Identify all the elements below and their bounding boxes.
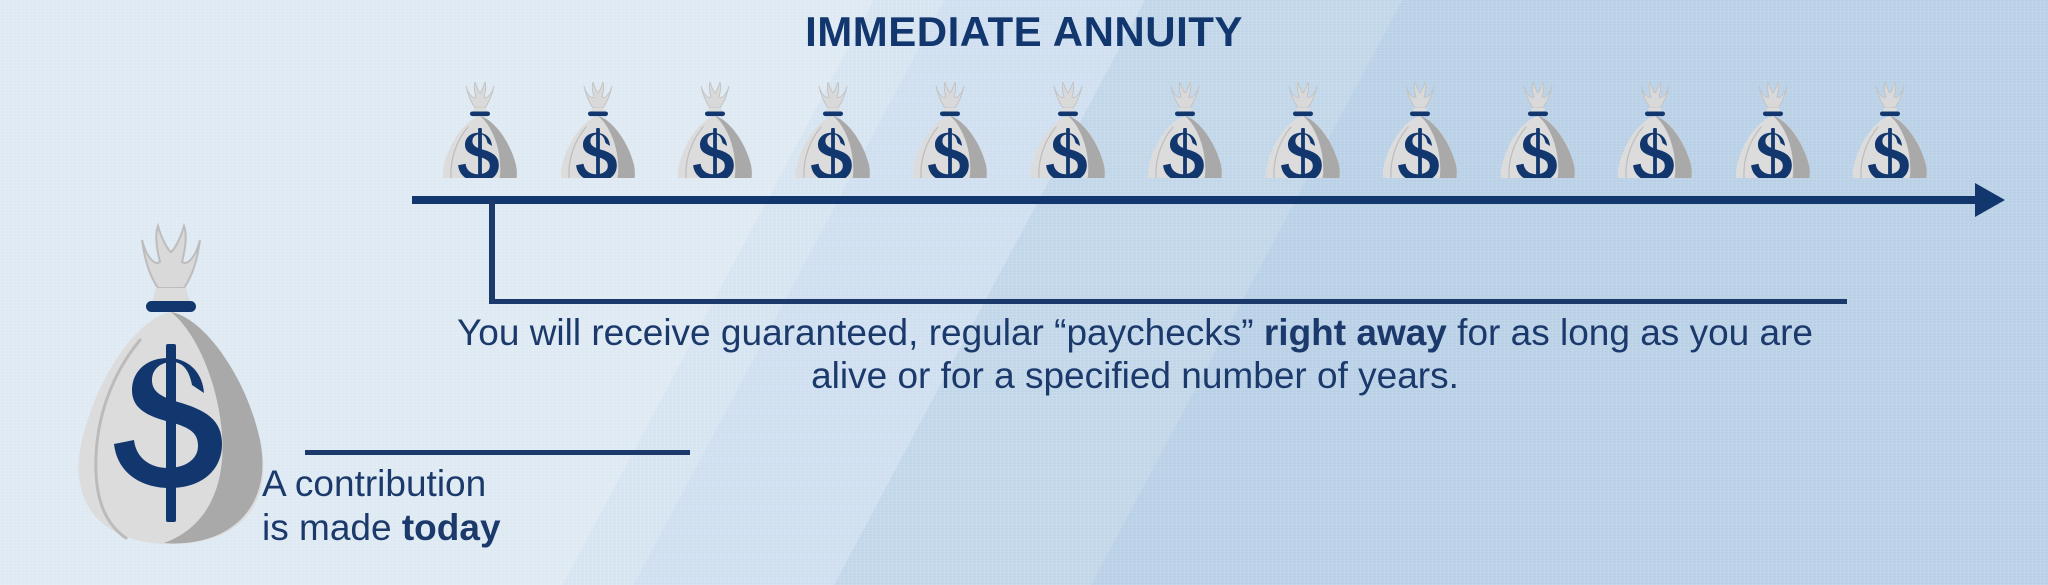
money-bag-icon — [783, 82, 883, 178]
description-line1-post: for — [1447, 312, 1500, 353]
money-bag-icon — [1840, 82, 1940, 178]
description-line1-bold: right away — [1264, 312, 1447, 353]
money-bag-row — [420, 82, 1980, 178]
timeline-axis-line — [412, 196, 1992, 204]
money-bag-icon — [900, 82, 1000, 178]
contribution-line2-pre: is made — [262, 507, 402, 548]
connector-horizontal-line — [489, 299, 1847, 304]
money-bag-icon — [1370, 82, 1470, 178]
connector-vertical-line — [489, 200, 495, 304]
money-bag-large-icon — [46, 222, 296, 562]
money-bag-icon — [1488, 82, 1588, 178]
money-bag-icon — [665, 82, 765, 178]
money-bag-icon — [1605, 82, 1705, 178]
description-line1-pre: You will receive guaranteed, regular “pa… — [457, 312, 1264, 353]
contribution-line1: A contribution — [262, 462, 782, 506]
contribution-line2: is made today — [262, 506, 782, 550]
page-title: IMMEDIATE ANNUITY — [0, 8, 2048, 56]
money-bag-icon — [1135, 82, 1235, 178]
contribution-underline — [305, 450, 690, 455]
contribution-line2-bold: today — [402, 507, 501, 548]
infographic-canvas: IMMEDIATE ANNUITY — [0, 0, 2048, 585]
money-bag-icon — [1018, 82, 1118, 178]
timeline-arrow-head-icon — [1975, 183, 2005, 217]
contribution-caption: A contribution is made today — [262, 462, 782, 549]
money-bag-icon — [1723, 82, 1823, 178]
money-bag-icon — [548, 82, 648, 178]
description-text: You will receive guaranteed, regular “pa… — [420, 312, 1850, 398]
money-bag-icon — [1253, 82, 1353, 178]
money-bag-icon — [430, 82, 530, 178]
